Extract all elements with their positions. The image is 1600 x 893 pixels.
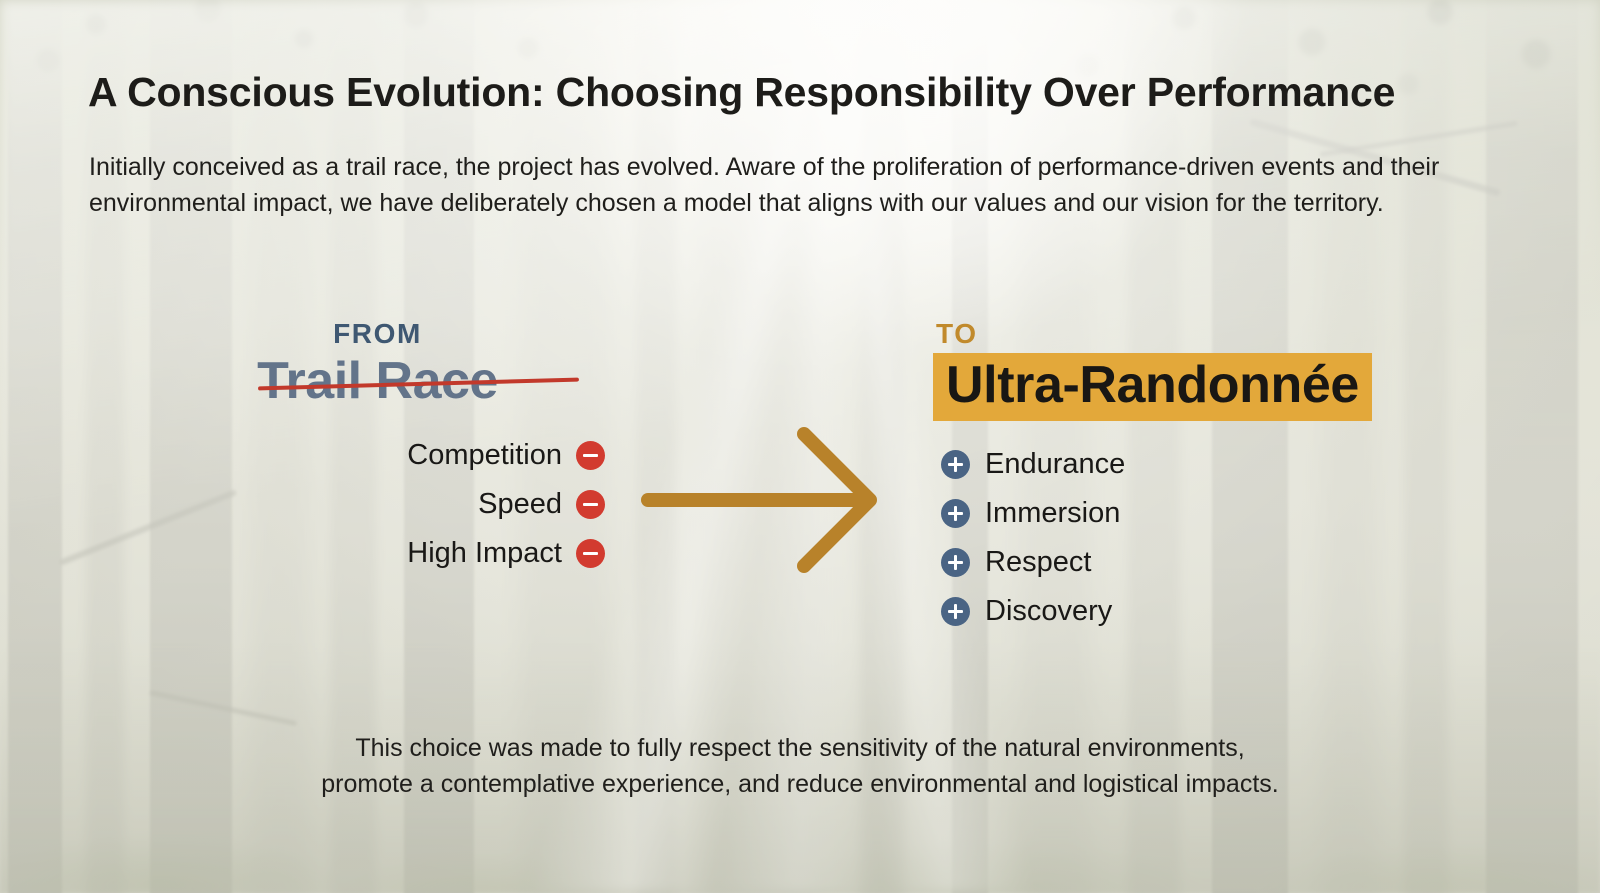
minus-circle-icon — [576, 490, 605, 519]
to-heading-group: Ultra-Randonnée — [933, 350, 1533, 421]
footer-line-1: This choice was made to fully respect th… — [0, 730, 1600, 766]
minus-circle-icon — [576, 539, 605, 568]
list-item: Discovery — [941, 592, 1533, 630]
plus-circle-icon — [941, 548, 970, 577]
from-item-label: Competition — [407, 441, 562, 470]
list-item: Immersion — [941, 494, 1533, 532]
plus-circle-icon — [941, 597, 970, 626]
plus-circle-icon — [941, 499, 970, 528]
to-items-list: Endurance Immersion Respect Discovery — [941, 445, 1533, 630]
list-item: Speed — [150, 485, 605, 523]
to-heading-highlight: Ultra-Randonnée — [933, 353, 1372, 421]
list-item: High Impact — [150, 534, 605, 572]
footer-note: This choice was made to fully respect th… — [0, 730, 1600, 802]
right-arrow-icon — [640, 418, 890, 583]
from-label: FROM — [150, 318, 605, 350]
to-item-label: Endurance — [985, 450, 1125, 479]
list-item: Endurance — [941, 445, 1533, 483]
to-column: TO Ultra-Randonnée Endurance Immersion — [933, 318, 1533, 641]
intro-paragraph: Initially conceived as a trail race, the… — [89, 150, 1487, 221]
from-column: FROM Trail Race Competition Speed — [150, 318, 605, 583]
from-items-list: Competition Speed High Impact — [150, 436, 605, 572]
slide-content: A Conscious Evolution: Choosing Responsi… — [0, 0, 1600, 893]
footer-line-2: promote a contemplative experience, and … — [0, 766, 1600, 802]
from-item-label: Speed — [478, 490, 562, 519]
from-item-label: High Impact — [407, 539, 562, 568]
to-heading: Ultra-Randonnée — [946, 356, 1359, 414]
list-item: Respect — [941, 543, 1533, 581]
to-item-label: Respect — [985, 548, 1091, 577]
slide-canvas: A Conscious Evolution: Choosing Responsi… — [0, 0, 1600, 893]
from-to-comparison: FROM Trail Race Competition Speed — [0, 318, 1600, 678]
list-item: Competition — [150, 436, 605, 474]
to-item-label: Discovery — [985, 597, 1112, 626]
plus-circle-icon — [941, 450, 970, 479]
to-item-label: Immersion — [985, 499, 1120, 528]
slide-title: A Conscious Evolution: Choosing Responsi… — [88, 70, 1508, 115]
to-label: TO — [936, 318, 1533, 350]
from-heading-group: Trail Race — [150, 352, 605, 410]
minus-circle-icon — [576, 441, 605, 470]
